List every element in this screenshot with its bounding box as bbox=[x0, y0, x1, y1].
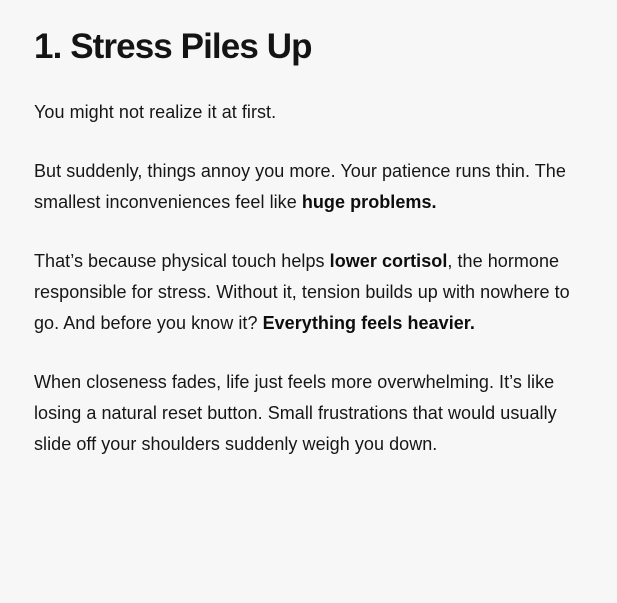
emphasis-text: huge problems. bbox=[302, 192, 437, 212]
article-body: You might not realize it at first. But s… bbox=[34, 97, 577, 460]
article-container: 1. Stress Piles Up You might not realize… bbox=[0, 0, 617, 603]
body-text: You might not realize it at first. bbox=[34, 102, 276, 122]
emphasis-text: Everything feels heavier. bbox=[263, 313, 475, 333]
paragraph-cortisol: That’s because physical touch helps lowe… bbox=[34, 246, 577, 339]
body-text: But suddenly, things annoy you more. You… bbox=[34, 161, 566, 212]
page-title: 1. Stress Piles Up bbox=[34, 26, 583, 69]
paragraph-annoyance: But suddenly, things annoy you more. You… bbox=[34, 156, 577, 218]
emphasis-text: lower cortisol bbox=[330, 251, 448, 271]
body-text: That’s because physical touch helps bbox=[34, 251, 330, 271]
paragraph-intro: You might not realize it at first. bbox=[34, 97, 577, 128]
body-text: When closeness fades, life just feels mo… bbox=[34, 372, 557, 454]
paragraph-closeness: When closeness fades, life just feels mo… bbox=[34, 367, 577, 460]
